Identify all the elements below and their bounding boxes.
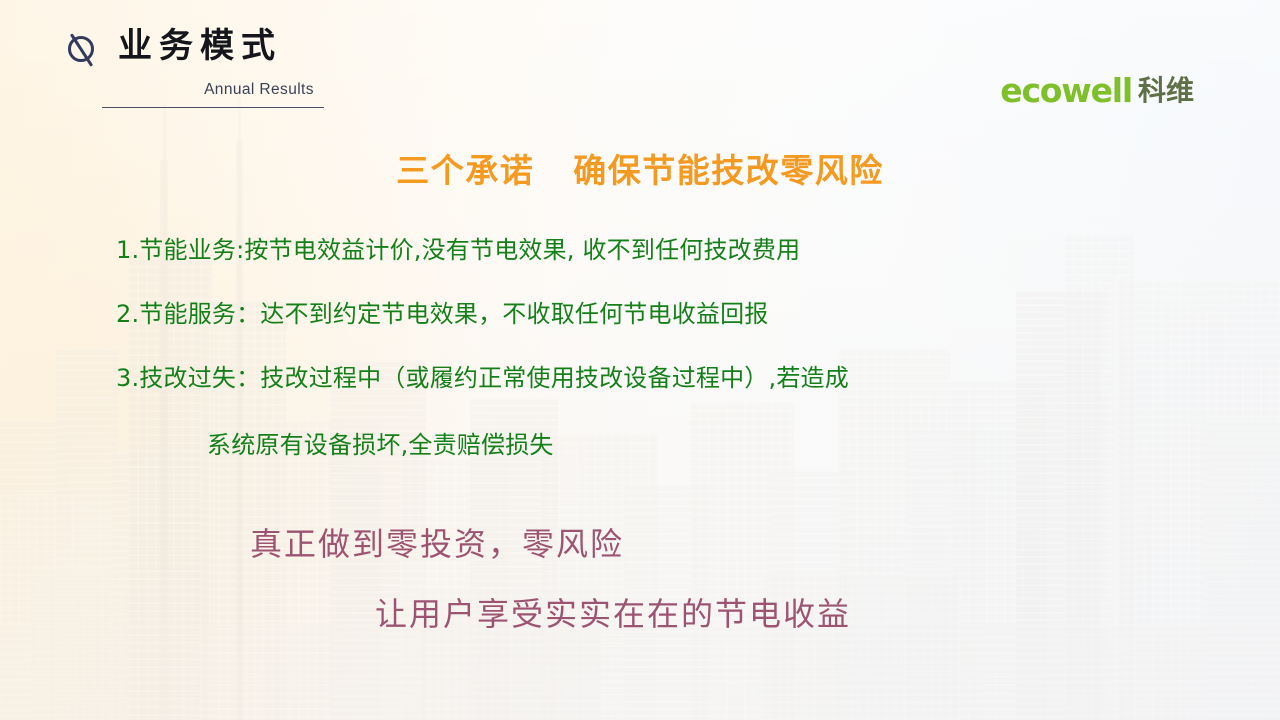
page-title: 业务模式 [118,29,282,63]
page-subtitle: Annual Results [66,81,406,99]
header-divider [102,107,324,108]
list-item: 1.节能业务:按节电效益计价,没有节电效果, 收不到任何技改费用 [116,238,800,262]
slide-headline: 三个承诺 确保节能技改零风险 [0,144,1280,192]
closing-line: 真正做到零投资，零风险 [250,528,624,560]
header-title-row: 业务模式 [66,24,406,68]
slide-header: 业务模式 Annual Results [66,24,406,108]
brand-wordmark: ecowell [1000,74,1132,107]
closing-line: 让用户享受实实在在的节电收益 [375,598,851,630]
slashed-circle-icon [66,30,104,68]
list-item: 3.技改过失：技改过程中（或履约正常使用技改设备过程中）,若造成 [116,366,849,390]
slide-canvas: 业务模式 Annual Results ecowell 科维 三个承诺 确保节能… [0,0,1280,720]
list-item-continuation: 系统原有设备损坏,全责赔偿损失 [207,433,554,457]
brand-chinese-name: 科维 [1138,77,1194,105]
brand-logo: ecowell 科维 [1000,74,1194,107]
list-item: 2.节能服务：达不到约定节电效果，不收取任何节电收益回报 [116,302,769,326]
